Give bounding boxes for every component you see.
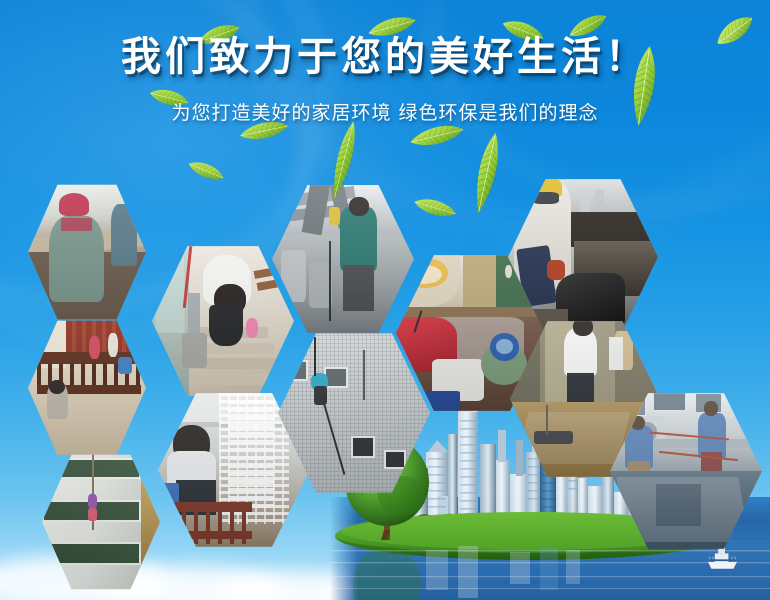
hex-railing-painting[interactable] <box>28 318 146 458</box>
leaf-icon <box>409 189 460 226</box>
page-subtitle: 为您打造美好的家居环境 绿色环保是我们的理念 <box>0 98 770 125</box>
hex-tiling-work[interactable] <box>28 182 146 322</box>
hex-ceiling-duct-work[interactable] <box>272 182 414 336</box>
subline-container: 为您打造美好的家居环境 绿色环保是我们的理念 <box>0 98 770 125</box>
leaf-icon <box>183 153 228 189</box>
banner-stage: 我们致力于您的美好生活！ 为您打造美好的家居环境 绿色环保是我们的理念 <box>0 0 770 600</box>
hex-stair-mopping[interactable] <box>152 243 294 399</box>
water-ripple <box>330 586 770 587</box>
water-ripple <box>330 556 770 557</box>
headline-container: 我们致力于您的美好生活！ <box>0 36 770 78</box>
water-ripple <box>330 593 770 594</box>
water-ripple <box>330 578 770 579</box>
leaf-icon <box>461 127 512 218</box>
water-ripple <box>330 571 770 572</box>
water-ripple <box>330 563 770 564</box>
page-title: 我们致力于您的美好生活！ <box>0 36 770 78</box>
